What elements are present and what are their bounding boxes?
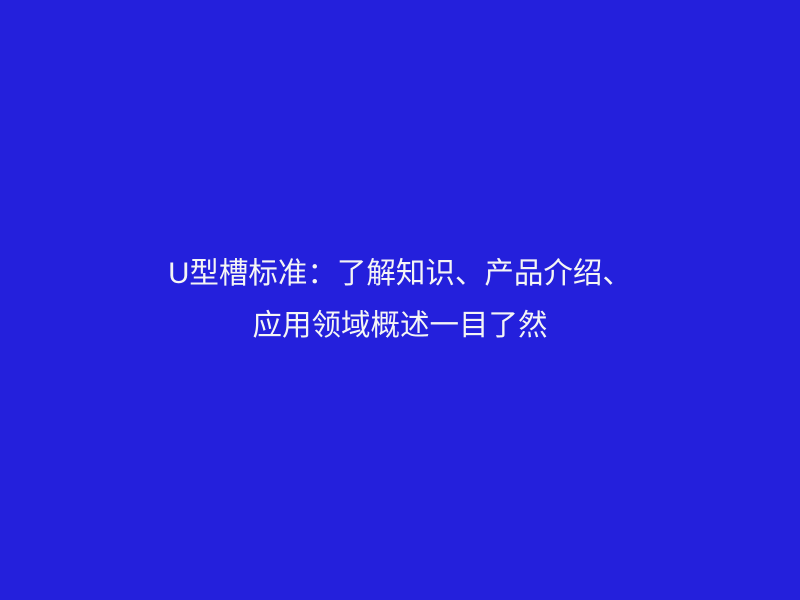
headline-block: U型槽标准：了解知识、产品介绍、应用领域概述一目了然 [0,248,800,352]
page-title: U型槽标准：了解知识、产品介绍、应用领域概述一目了然 [50,248,750,352]
banner-canvas: U型槽标准：了解知识、产品介绍、应用领域概述一目了然 [0,0,800,600]
